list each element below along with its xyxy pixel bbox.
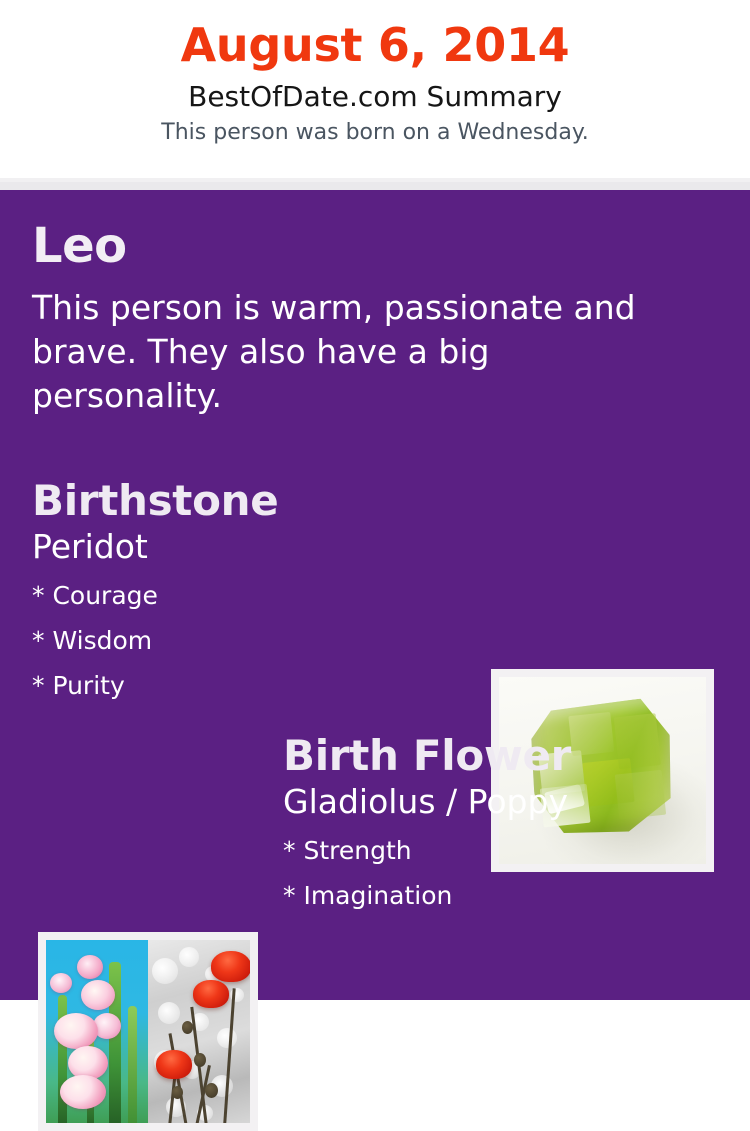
poppy-bud	[205, 1083, 218, 1098]
list-item: * Purity	[32, 653, 462, 698]
zodiac-description: This person is warm, passionate and brav…	[32, 270, 677, 419]
list-item: * Courage	[32, 563, 462, 608]
list-item: * Imagination	[283, 863, 723, 908]
list-item: * Wisdom	[32, 608, 462, 653]
gladiolus-bloom	[77, 955, 103, 979]
site-subtitle: BestOfDate.com Summary	[0, 68, 750, 111]
summary-panel: Leo This person is warm, passionate and …	[0, 190, 750, 1000]
birth-flower-name: Gladiolus / Poppy	[283, 777, 723, 818]
header: August 6, 2014 BestOfDate.com Summary Th…	[0, 0, 750, 178]
bokeh-light	[152, 958, 178, 984]
birth-flower-heading: Birth Flower	[283, 735, 723, 777]
gladiolus-bloom	[81, 980, 115, 1010]
poppy-bud	[182, 1021, 193, 1034]
page-title: August 6, 2014	[0, 0, 750, 68]
list-item: * Strength	[283, 818, 723, 863]
divider-highlight	[0, 178, 750, 182]
birth-flower-image-frame	[38, 932, 258, 1131]
infographic-card: August 6, 2014 BestOfDate.com Summary Th…	[0, 0, 750, 1000]
poppy-stem	[223, 988, 236, 1123]
poppy-bloom	[193, 980, 229, 1008]
zodiac-sign-name: Leo	[32, 222, 692, 270]
bokeh-light	[217, 1028, 237, 1048]
gladiolus-poppy-icon	[46, 940, 250, 1123]
photo-split	[46, 940, 250, 1123]
poppy-photo	[148, 940, 250, 1123]
birth-flower-section: Birth Flower Gladiolus / Poppy * Strengt…	[283, 735, 723, 908]
poppy-bloom	[156, 1050, 192, 1079]
bokeh-light	[158, 1002, 180, 1024]
flower-stem	[128, 1006, 137, 1123]
gladiolus-photo	[46, 940, 148, 1123]
poppy-bud	[194, 1053, 206, 1067]
birthstone-trait-list: * Courage * Wisdom * Purity	[32, 563, 462, 698]
birth-flower-trait-list: * Strength * Imagination	[283, 818, 723, 908]
birthstone-heading: Birthstone	[32, 480, 462, 522]
gladiolus-bloom	[50, 973, 72, 993]
bokeh-light	[179, 947, 199, 967]
poppy-bloom	[211, 951, 250, 982]
birth-weekday-text: This person was born on a Wednesday.	[0, 111, 750, 144]
header-divider	[0, 178, 750, 190]
birthstone-section: Birthstone Peridot * Courage * Wisdom * …	[32, 480, 462, 698]
gladiolus-bloom	[60, 1075, 106, 1109]
zodiac-section: Leo This person is warm, passionate and …	[32, 222, 692, 419]
birthstone-name: Peridot	[32, 522, 462, 563]
